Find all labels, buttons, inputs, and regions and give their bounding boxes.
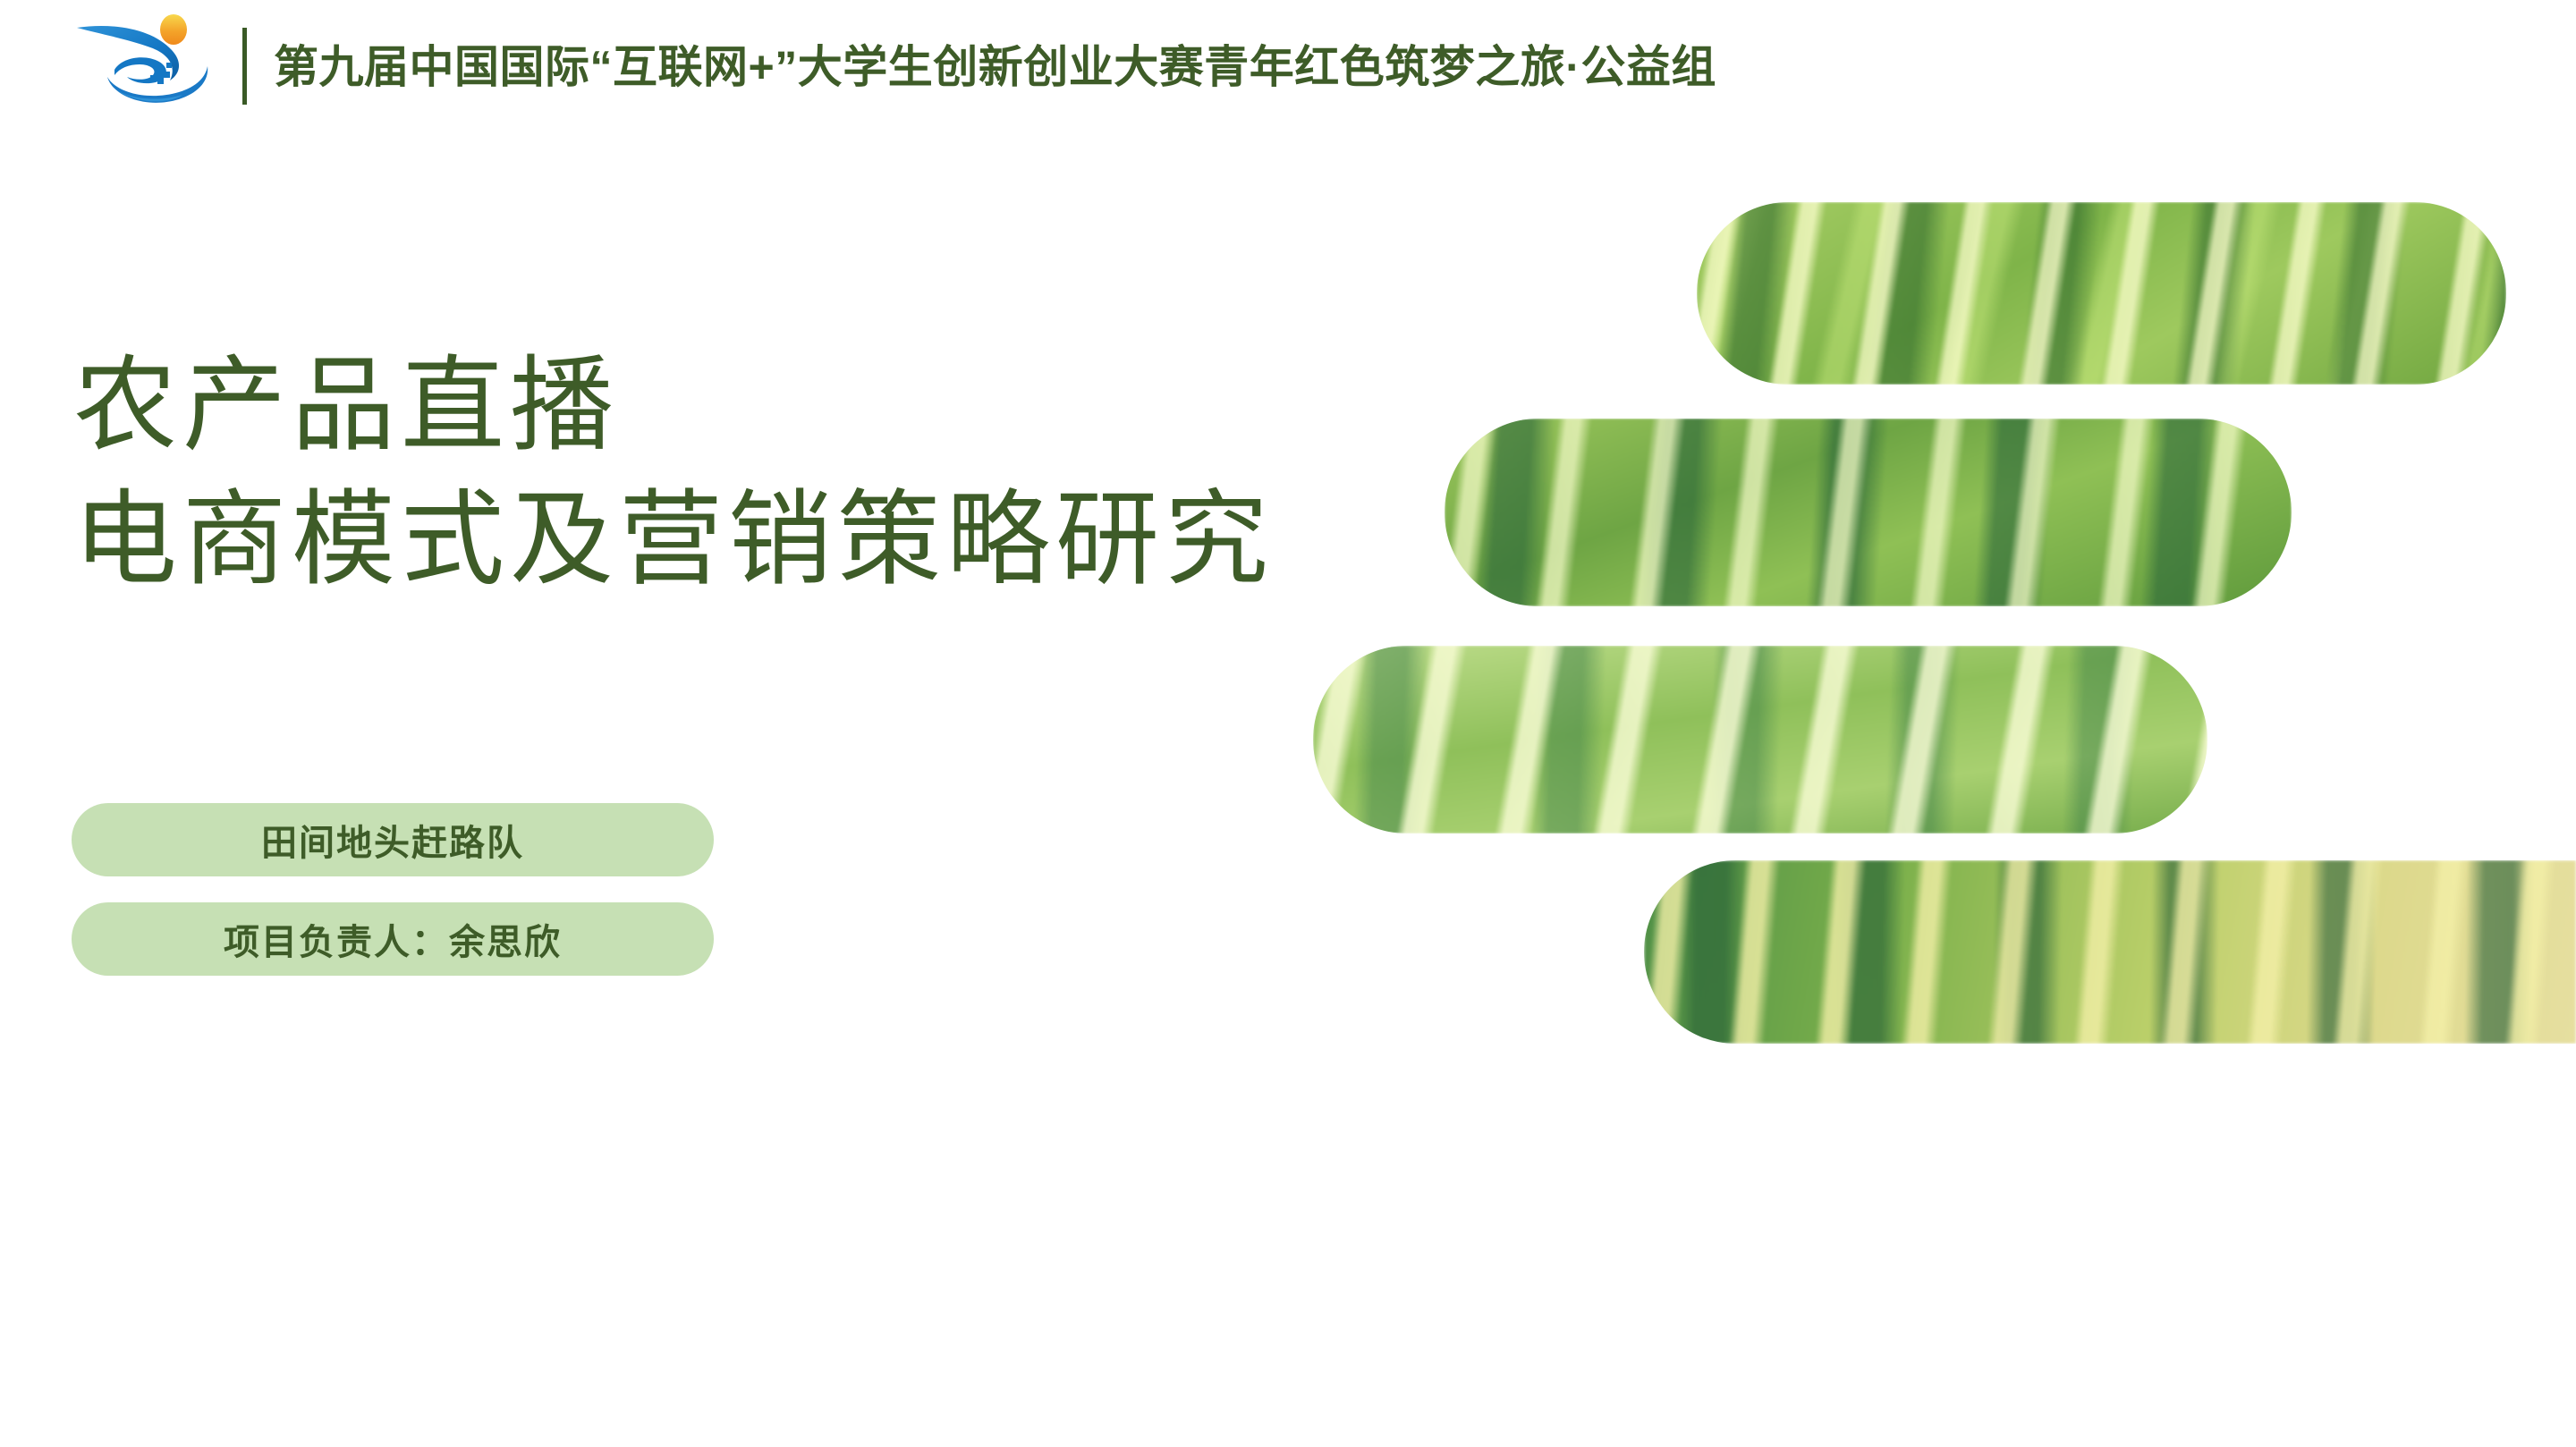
competition-title: 第九届中国国际“互联网+”大学生创新创业大赛青年红色筑梦之旅·公益组: [274, 30, 1716, 105]
slide-header: 第九届中国国际“互联网+”大学生创新创业大赛青年红色筑梦之旅·公益组: [0, 0, 2576, 118]
project-leader-pill: 项目负责人：余思欣: [72, 902, 714, 976]
page-title: 农产品直播 电商模式及营销策略研究: [73, 338, 1469, 606]
grass-bottom-band: [0, 1086, 2576, 1281]
logo-sun-icon: [160, 14, 187, 45]
team-name-pill: 田间地头赶路队: [72, 803, 714, 876]
competition-logo: [73, 7, 233, 107]
header-divider: [242, 28, 247, 105]
grass-pill-shape-4: [1644, 860, 2576, 1044]
info-labels: 田间地头赶路队 项目负责人：余思欣: [72, 803, 714, 1002]
grass-texture: [1697, 202, 2506, 385]
title-line-2: 电商模式及营销策略研究: [73, 472, 1469, 606]
grass-texture: [1313, 646, 2207, 834]
grass-pill-shape-2: [1445, 419, 2292, 606]
slide-canvas: 第九届中国国际“互联网+”大学生创新创业大赛青年红色筑梦之旅·公益组 农产品直播…: [0, 0, 2576, 1281]
grass-pill-shape-3: [1313, 646, 2207, 834]
grass-texture: [1644, 860, 2576, 1044]
grass-texture: [1445, 419, 2292, 606]
title-line-1: 农产品直播: [73, 338, 1469, 472]
grass-pill-shape-1: [1697, 202, 2506, 385]
